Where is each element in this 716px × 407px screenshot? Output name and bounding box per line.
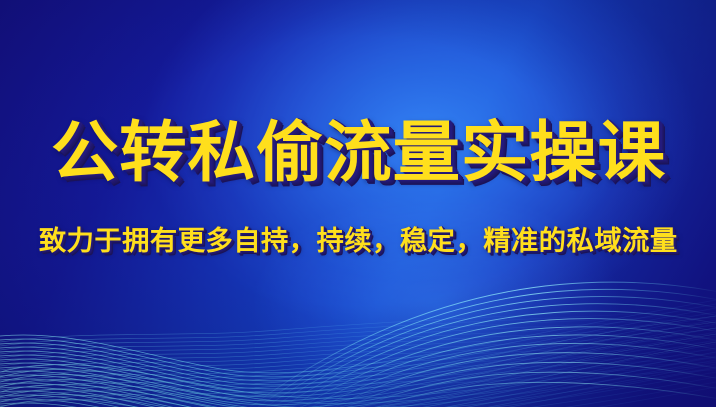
poster-text-stack: 公转私偷流量实操课 致力于拥有更多自持，持续，稳定，精准的私域流量 — [0, 0, 716, 407]
poster-title: 公转私偷流量实操课 — [50, 118, 665, 187]
poster-subtitle: 致力于拥有更多自持，持续，稳定，精准的私域流量 — [39, 227, 678, 257]
course-promo-poster: 公转私偷流量实操课 致力于拥有更多自持，持续，稳定，精准的私域流量 — [0, 0, 716, 407]
